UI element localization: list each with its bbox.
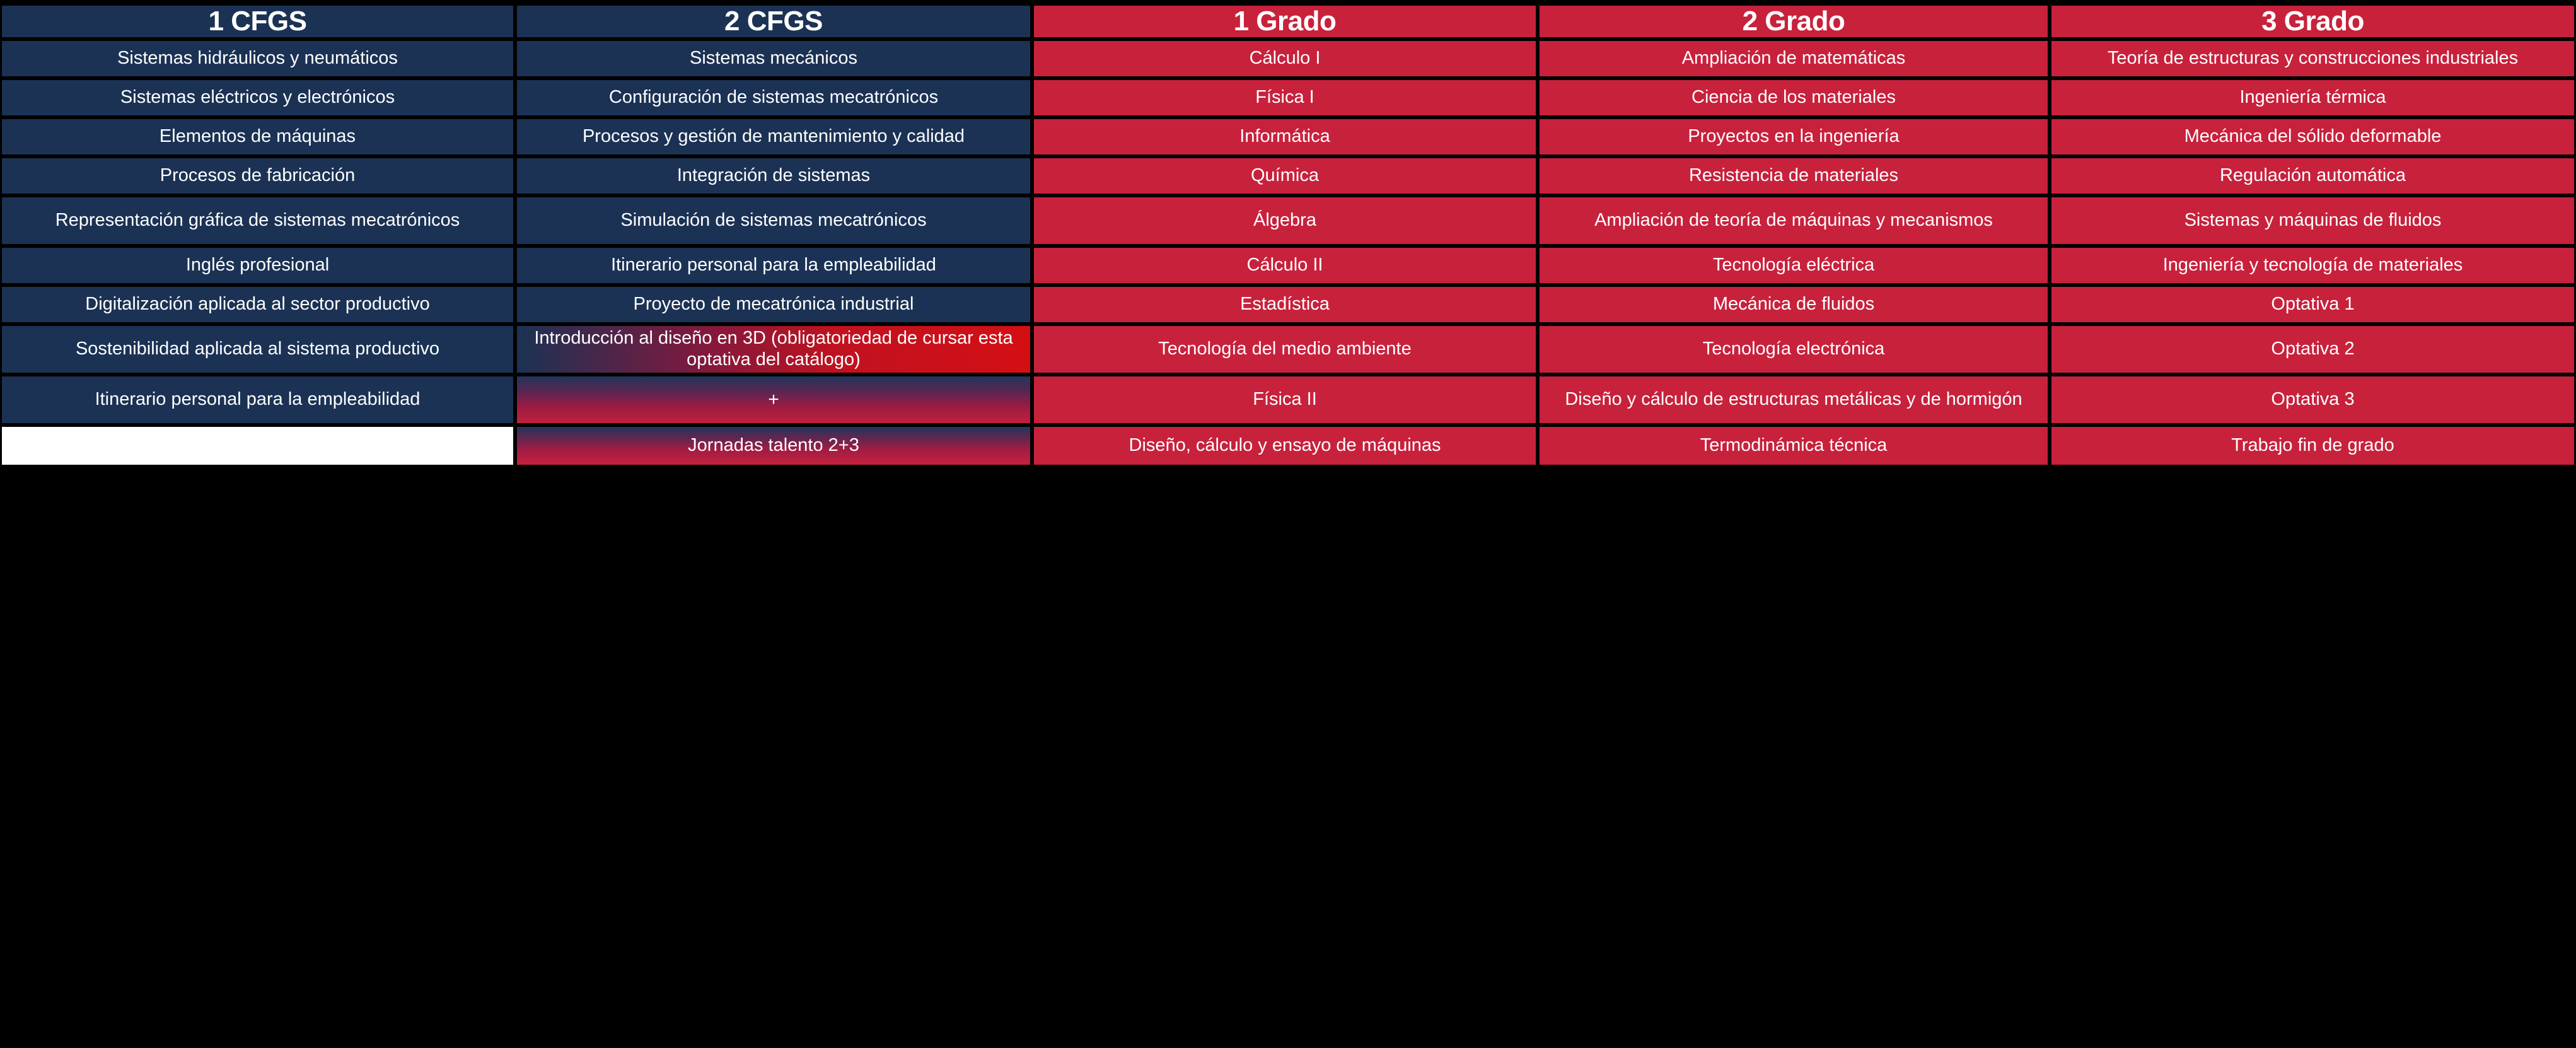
column-header-1: 1 CFGS	[2, 6, 513, 37]
subject-cell: Digitalización aplicada al sector produc…	[2, 287, 513, 322]
column-header-3: 1 Grado	[1034, 6, 1536, 37]
subject-cell: Itinerario personal para la empleabilida…	[2, 376, 513, 423]
subject-cell: Sistemas eléctricos y electrónicos	[2, 80, 513, 115]
subject-cell: Representación gráfica de sistemas mecat…	[2, 197, 513, 244]
subject-cell: Elementos de máquinas	[2, 119, 513, 154]
curriculum-table-sheet: 1 CFGS2 CFGS1 Grado2 Grado3 GradoSistema…	[0, 0, 2576, 1048]
subject-cell: Estadística	[1034, 287, 1536, 322]
subject-cell: Regulación automática	[2051, 158, 2574, 194]
subject-cell: Proyecto de mecatrónica industrial	[517, 287, 1030, 322]
subject-cell: Física I	[1034, 80, 1536, 115]
subject-cell: Proyectos en la ingeniería	[1540, 119, 2048, 154]
subject-cell: Ampliación de teoría de máquinas y mecan…	[1540, 197, 2048, 244]
subject-cell: Física II	[1034, 376, 1536, 423]
subject-cell: Ingeniería y tecnología de materiales	[2051, 248, 2574, 283]
column-header-5: 3 Grado	[2051, 6, 2574, 37]
subject-cell: Inglés profesional	[2, 248, 513, 283]
subject-cell: Simulación de sistemas mecatrónicos	[517, 197, 1030, 244]
column-header-2: 2 CFGS	[517, 6, 1030, 37]
subject-cell: Informática	[1034, 119, 1536, 154]
subject-cell: Cálculo I	[1034, 41, 1536, 76]
subject-cell: Itinerario personal para la empleabilida…	[517, 248, 1030, 283]
curriculum-grid: 1 CFGS2 CFGS1 Grado2 Grado3 GradoSistema…	[0, 4, 2576, 1044]
subject-cell: Ciencia de los materiales	[1540, 80, 2048, 115]
subject-cell: Sistemas y máquinas de fluidos	[2051, 197, 2574, 244]
subject-cell: Resistencia de materiales	[1540, 158, 2048, 194]
subject-cell: Trabajo fin de grado	[2051, 427, 2574, 465]
subject-cell: Integración de sistemas	[517, 158, 1030, 194]
subject-cell: Tecnología eléctrica	[1540, 248, 2048, 283]
subject-cell: Ingeniería térmica	[2051, 80, 2574, 115]
subject-cell: Ampliación de matemáticas	[1540, 41, 2048, 76]
subject-cell: Procesos y gestión de mantenimiento y ca…	[517, 119, 1030, 154]
column-header-4: 2 Grado	[1540, 6, 2048, 37]
subject-cell: Sistemas hidráulicos y neumáticos	[2, 41, 513, 76]
subject-cell: Optativa 3	[2051, 376, 2574, 423]
subject-cell: Introducción al diseño en 3D (obligatori…	[517, 326, 1030, 373]
subject-cell: Diseño y cálculo de estructuras metálica…	[1540, 376, 2048, 423]
subject-cell: Tecnología del medio ambiente	[1034, 326, 1536, 373]
subject-cell: Tecnología electrónica	[1540, 326, 2048, 373]
empty-cell	[2, 427, 513, 465]
subject-cell: Sostenibilidad aplicada al sistema produ…	[2, 326, 513, 373]
subject-cell: Optativa 2	[2051, 326, 2574, 373]
subject-cell: Procesos de fabricación	[2, 158, 513, 194]
subject-cell: Optativa 1	[2051, 287, 2574, 322]
subject-cell: Química	[1034, 158, 1536, 194]
subject-cell: Jornadas talento 2+3	[517, 427, 1030, 465]
subject-cell: Mecánica de fluidos	[1540, 287, 2048, 322]
subject-cell: Termodinámica técnica	[1540, 427, 2048, 465]
subject-cell: Configuración de sistemas mecatrónicos	[517, 80, 1030, 115]
subject-cell: Teoría de estructuras y construcciones i…	[2051, 41, 2574, 76]
subject-cell: Álgebra	[1034, 197, 1536, 244]
subject-cell: Sistemas mecánicos	[517, 41, 1030, 76]
subject-cell: Mecánica del sólido deformable	[2051, 119, 2574, 154]
subject-cell: Cálculo II	[1034, 248, 1536, 283]
subject-cell: Diseño, cálculo y ensayo de máquinas	[1034, 427, 1536, 465]
subject-cell: +	[517, 376, 1030, 423]
